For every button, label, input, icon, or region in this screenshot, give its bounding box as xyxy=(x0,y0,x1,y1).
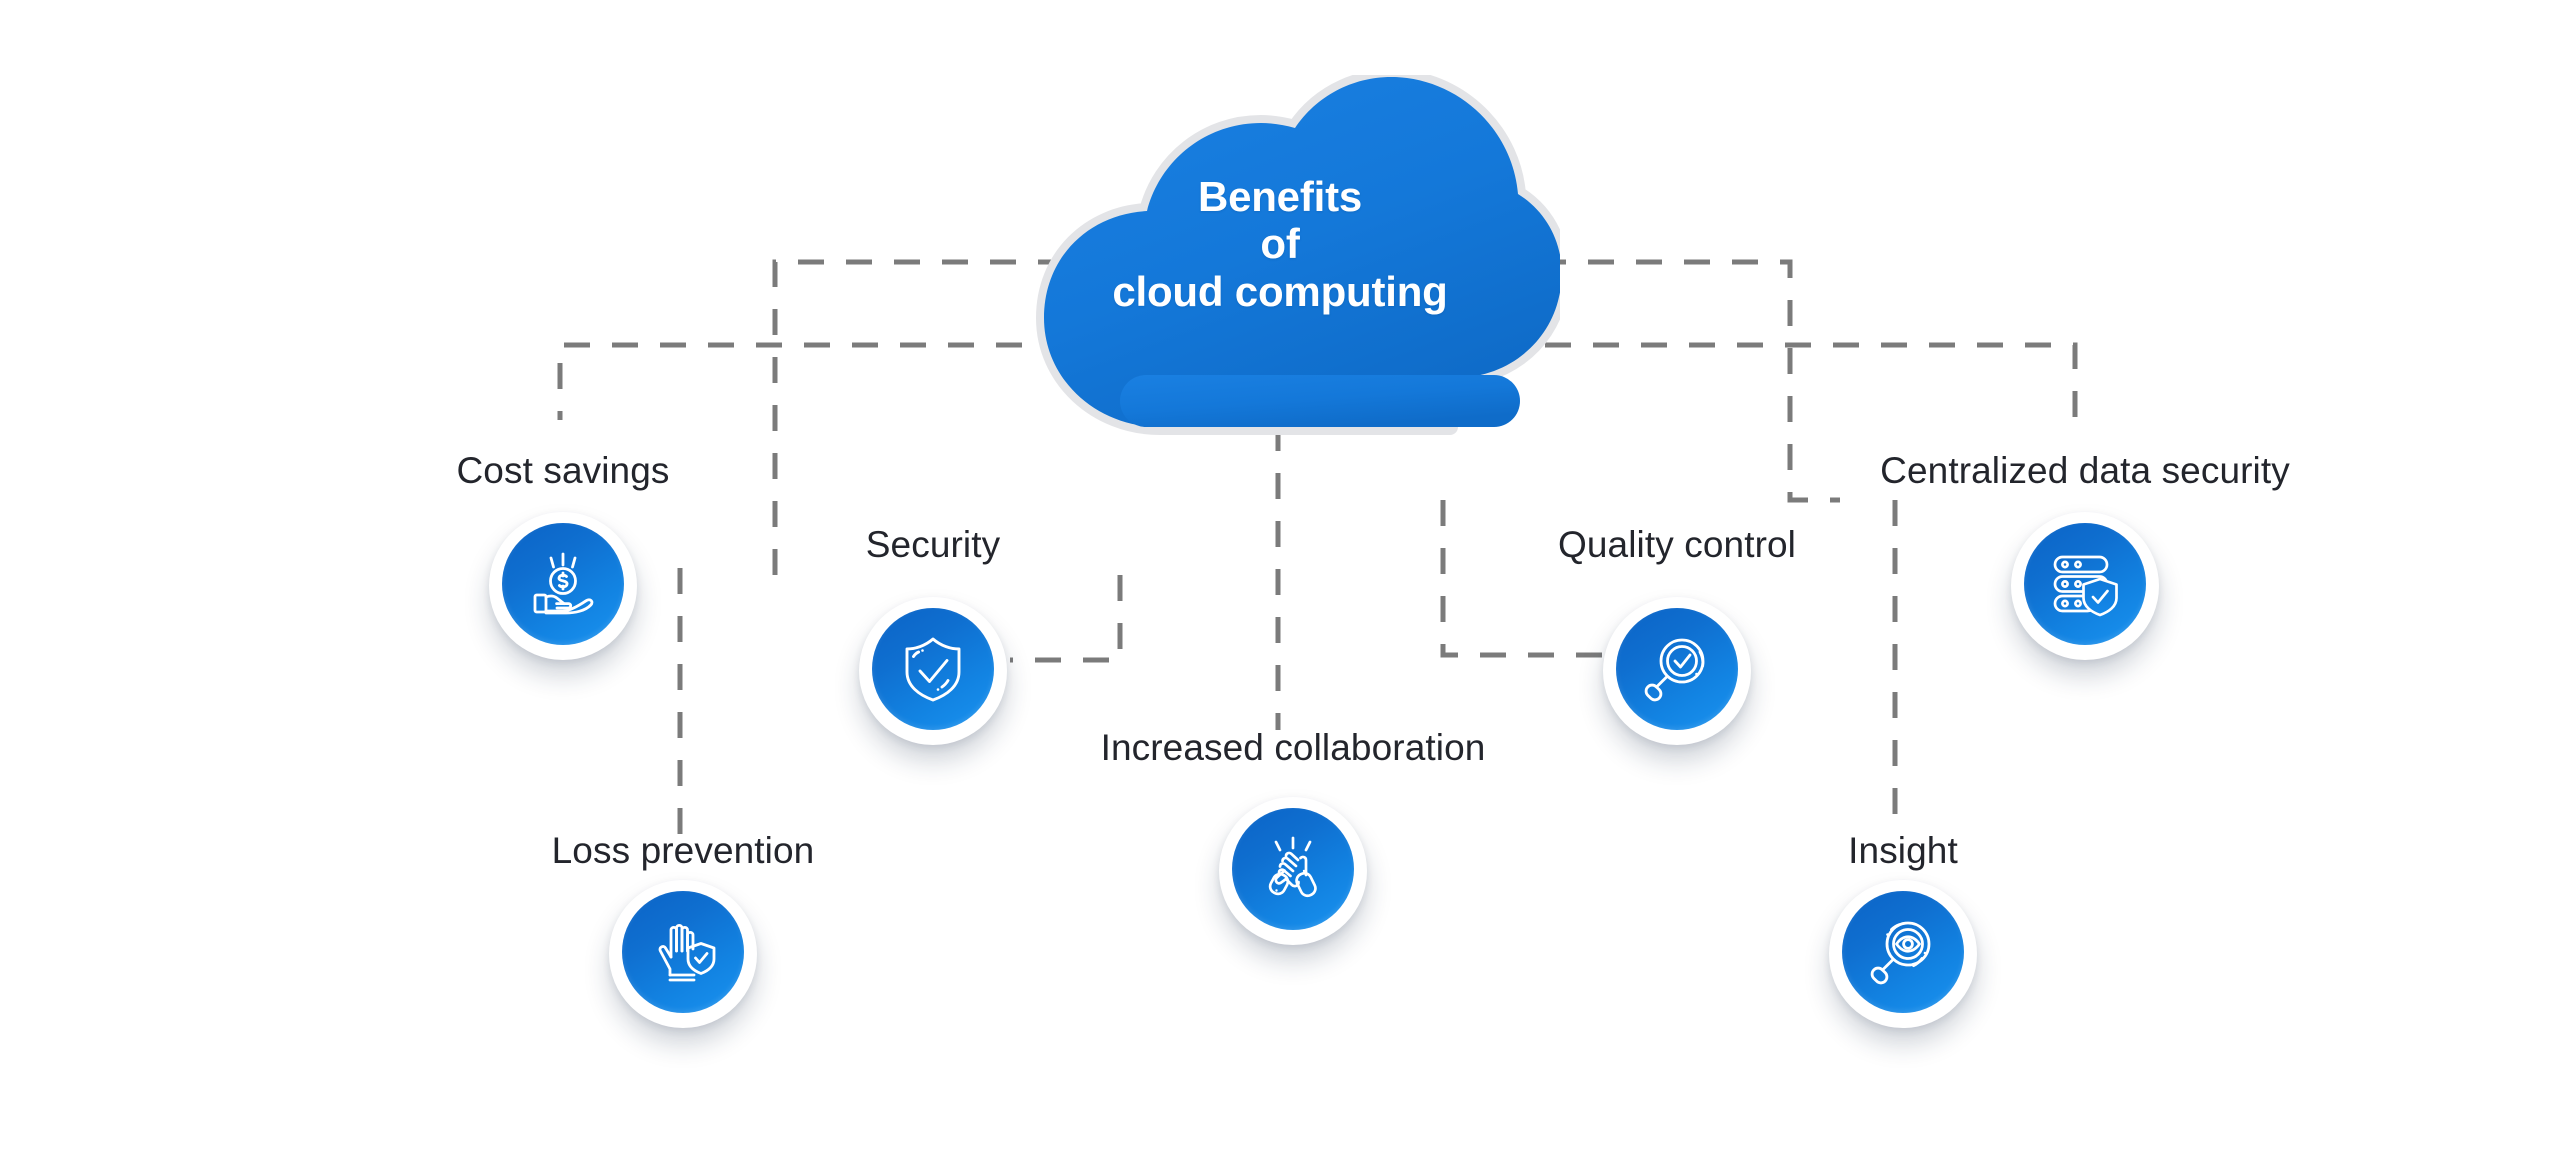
shield-check-icon xyxy=(896,632,970,706)
handshake-icon xyxy=(1256,832,1330,906)
icon-badge-insight[interactable] xyxy=(1829,880,1977,1028)
magnifier-check-icon xyxy=(1640,632,1714,706)
badge-disc xyxy=(2024,523,2146,645)
label-security: Security xyxy=(866,524,1000,566)
cloud-shape-icon xyxy=(1000,75,1560,435)
label-centralized-data-security: Centralized data security xyxy=(1880,450,2290,492)
label-increased-collaboration: Increased collaboration xyxy=(1101,727,1486,769)
hand-shield-icon xyxy=(646,915,720,989)
infographic-canvas: Benefits of cloud computing Cost savings xyxy=(0,0,2560,1167)
badge-disc xyxy=(1232,808,1354,930)
icon-badge-increased-collaboration[interactable] xyxy=(1219,797,1367,945)
badge-disc xyxy=(872,608,994,730)
badge-disc xyxy=(622,891,744,1013)
connector-mid-right xyxy=(1545,345,2075,430)
label-insight: Insight xyxy=(1848,830,1958,872)
label-quality-control: Quality control xyxy=(1558,524,1796,566)
badge-disc xyxy=(1616,608,1738,730)
magnifier-eye-icon xyxy=(1866,915,1940,989)
icon-badge-loss-prevention[interactable] xyxy=(609,880,757,1028)
connector-mid-left xyxy=(560,345,1022,420)
label-cost-savings: Cost savings xyxy=(456,450,669,492)
server-shield-icon xyxy=(2048,547,2122,621)
icon-badge-security[interactable] xyxy=(859,597,1007,745)
icon-badge-cost-savings[interactable] xyxy=(489,512,637,660)
icon-badge-centralized-data-security[interactable] xyxy=(2011,512,2159,660)
hand-holding-coin-icon xyxy=(526,547,600,621)
icon-badge-quality-control[interactable] xyxy=(1603,597,1751,745)
badge-disc xyxy=(1842,891,1964,1013)
label-loss-prevention: Loss prevention xyxy=(552,830,815,872)
connector-security xyxy=(1010,575,1120,660)
badge-disc xyxy=(502,523,624,645)
center-cloud-node: Benefits of cloud computing xyxy=(1000,75,1560,435)
